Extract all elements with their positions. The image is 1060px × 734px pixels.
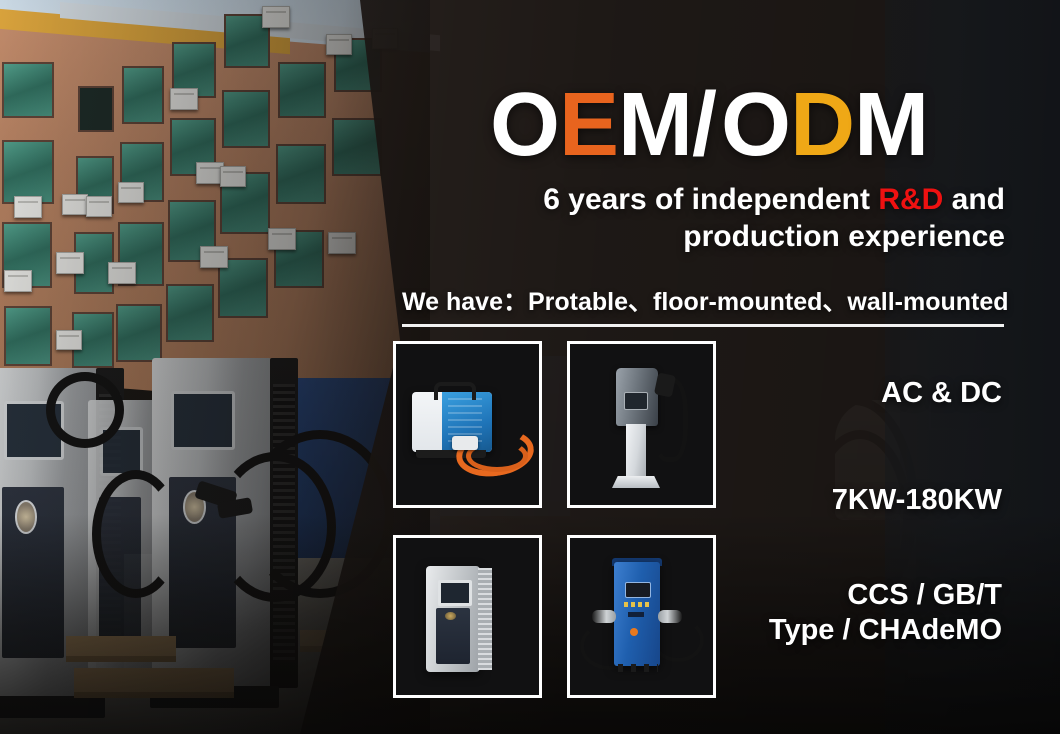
dc-charger-screen [438, 580, 472, 606]
wall-charger-screen [624, 392, 648, 410]
spec-connector-types: CCS / GB/T Type / CHAdeMO [769, 578, 1002, 649]
headline-letter-o2: O [721, 75, 790, 175]
blue-charger-card-slot [628, 612, 644, 617]
subheadline: 6 years of independent R&D and productio… [470, 182, 1005, 255]
blue-charger-indicator [630, 628, 638, 636]
product-types-bar: We have：Protable、floor-mounted、wall-moun… [402, 282, 1004, 327]
spec-power-range: 7KW-180KW [832, 484, 1002, 517]
headline-separator: / [692, 75, 721, 175]
charger-pedestal-base [612, 476, 660, 488]
product-types-text: We have：Protable、floor-mounted、wall-moun… [402, 282, 1004, 318]
dc-charger-socket [445, 612, 456, 620]
headline-letter-e: E [559, 75, 618, 175]
product-cell-blue-dual-gun-dc-charger[interactable] [567, 535, 716, 698]
headline-letter-m2: M [854, 75, 928, 175]
spec-current-type: AC & DC [881, 377, 1002, 410]
subheadline-line-2: production experience [470, 219, 1005, 256]
charging-gun-right [658, 610, 682, 623]
subheadline-highlight-rd: R&D [878, 183, 943, 216]
spec-connector-line-1: CCS / GB/T [769, 578, 1002, 613]
headline: OEM/ODM [490, 80, 995, 170]
blue-charger-legs [618, 664, 658, 672]
portable-charger-handle [434, 382, 476, 400]
product-cell-floor-mounted-dc-charger[interactable] [393, 535, 542, 698]
product-cell-portable-dc-charger[interactable] [393, 341, 542, 508]
charging-gun-left [592, 610, 616, 623]
product-image-grid [393, 341, 716, 698]
headline-letter-m1: M [618, 75, 692, 175]
headline-letter-o1: O [490, 75, 559, 175]
spec-connector-line-2: Type / CHAdeMO [769, 613, 1002, 648]
charging-plug [452, 436, 478, 450]
promotional-banner: OEM/ODM 6 years of independent R&D and p… [0, 0, 1060, 734]
dc-charger-heatsink [478, 568, 492, 670]
subheadline-text-a: 6 years of independent [543, 183, 878, 216]
headline-letter-d: D [790, 75, 854, 175]
blue-charger-screen [625, 582, 651, 598]
product-cell-pedestal-wall-charger[interactable] [567, 341, 716, 508]
subheadline-text-b: and [943, 183, 1005, 216]
charger-pedestal-pole [626, 424, 646, 480]
subheadline-line-1: 6 years of independent R&D and [470, 182, 1005, 219]
blue-charger-buttons [624, 602, 650, 607]
